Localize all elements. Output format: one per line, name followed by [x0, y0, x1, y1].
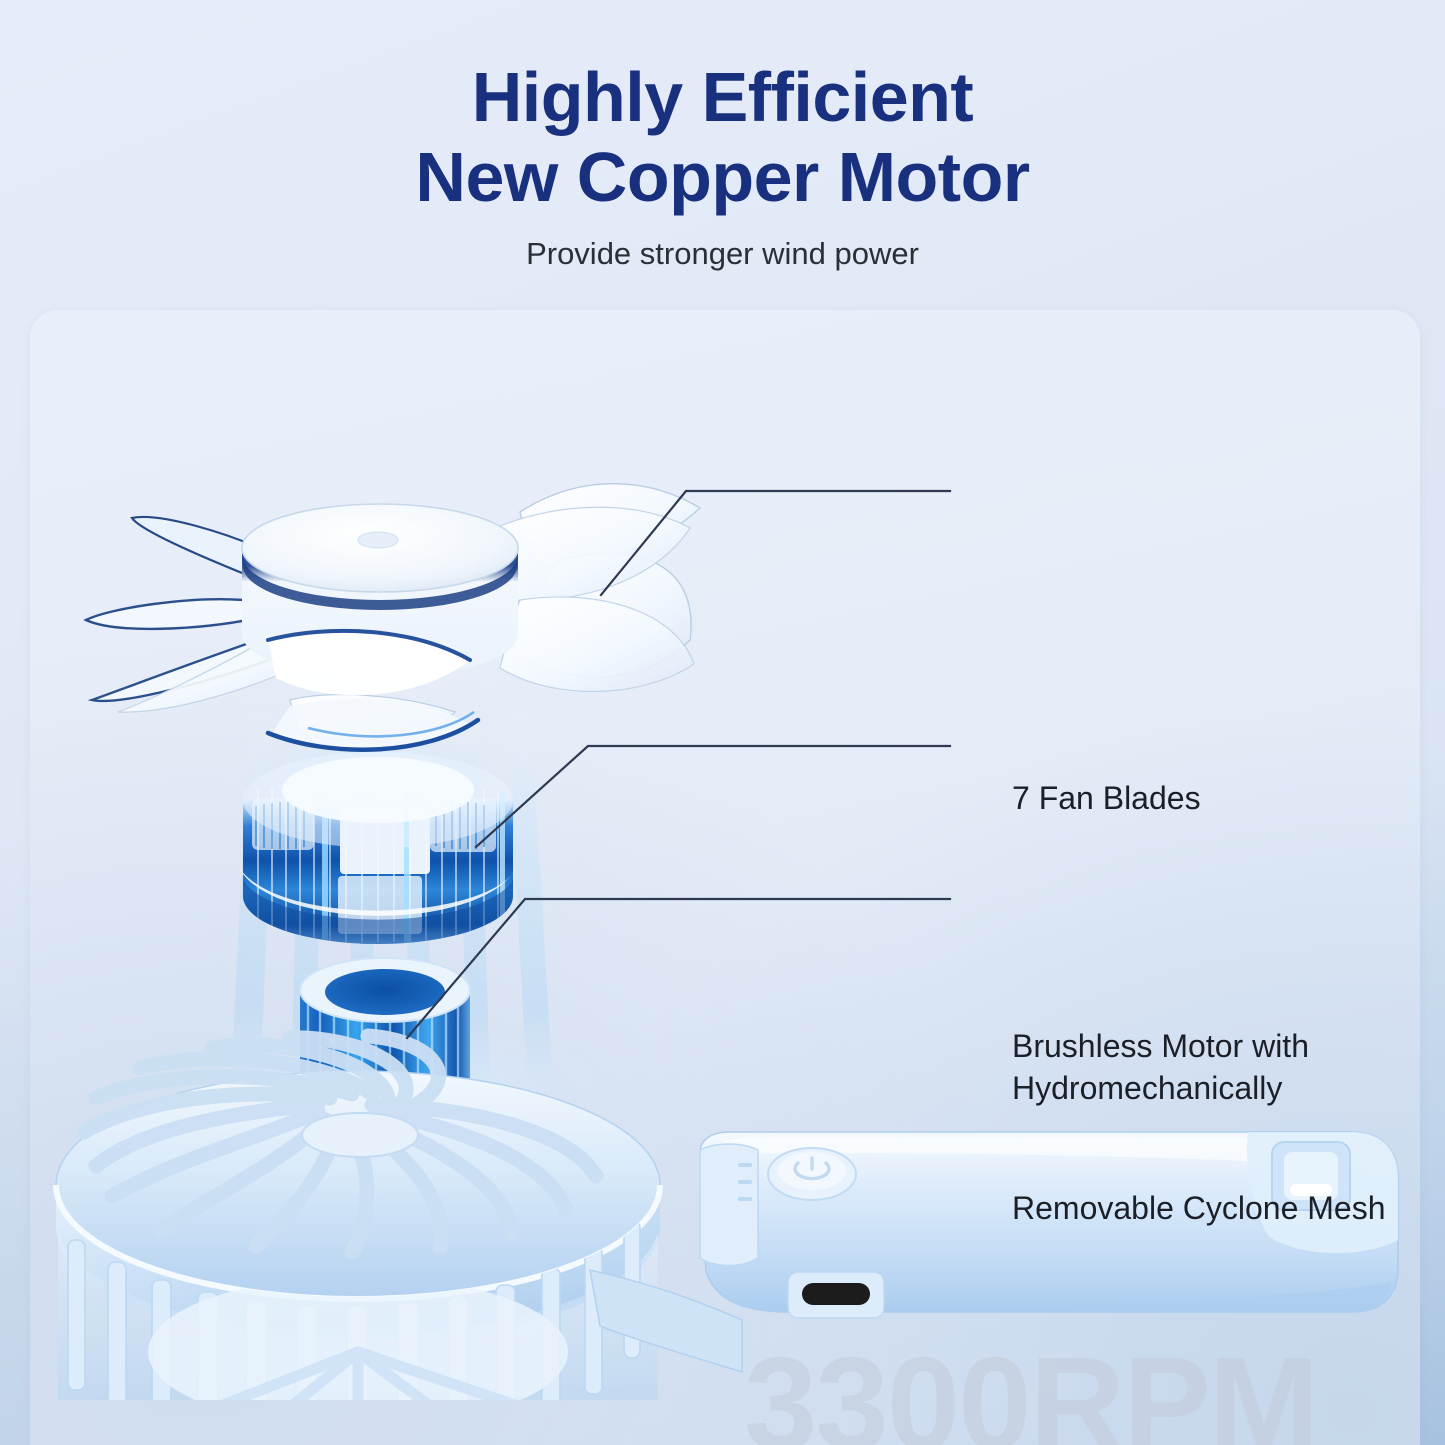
feature-card: 3300RPM	[30, 310, 1420, 1445]
leader-line-motor	[476, 746, 950, 847]
callout-leader-lines	[30, 310, 1420, 1445]
callout-brushless-motor-line2: Hydromechanically	[1012, 1067, 1309, 1109]
leader-line-fan-blades	[601, 491, 950, 595]
callout-fan-blades: 7 Fan Blades	[1012, 777, 1201, 819]
page-title-line1: Highly Efficient	[0, 57, 1445, 137]
callout-cyclone-mesh: Removable Cyclone Mesh	[1012, 1187, 1386, 1229]
header: Highly Efficient New Copper Motor Provid…	[0, 0, 1445, 300]
page-title-line2: New Copper Motor	[0, 137, 1445, 217]
infographic-page: Highly Efficient New Copper Motor Provid…	[0, 0, 1445, 1445]
callout-brushless-motor: Brushless Motor with Hydromechanically	[1012, 1025, 1309, 1109]
leader-line-cyclone	[407, 899, 950, 1038]
callout-brushless-motor-line1: Brushless Motor with	[1012, 1025, 1309, 1067]
page-subtitle: Provide stronger wind power	[0, 233, 1445, 275]
